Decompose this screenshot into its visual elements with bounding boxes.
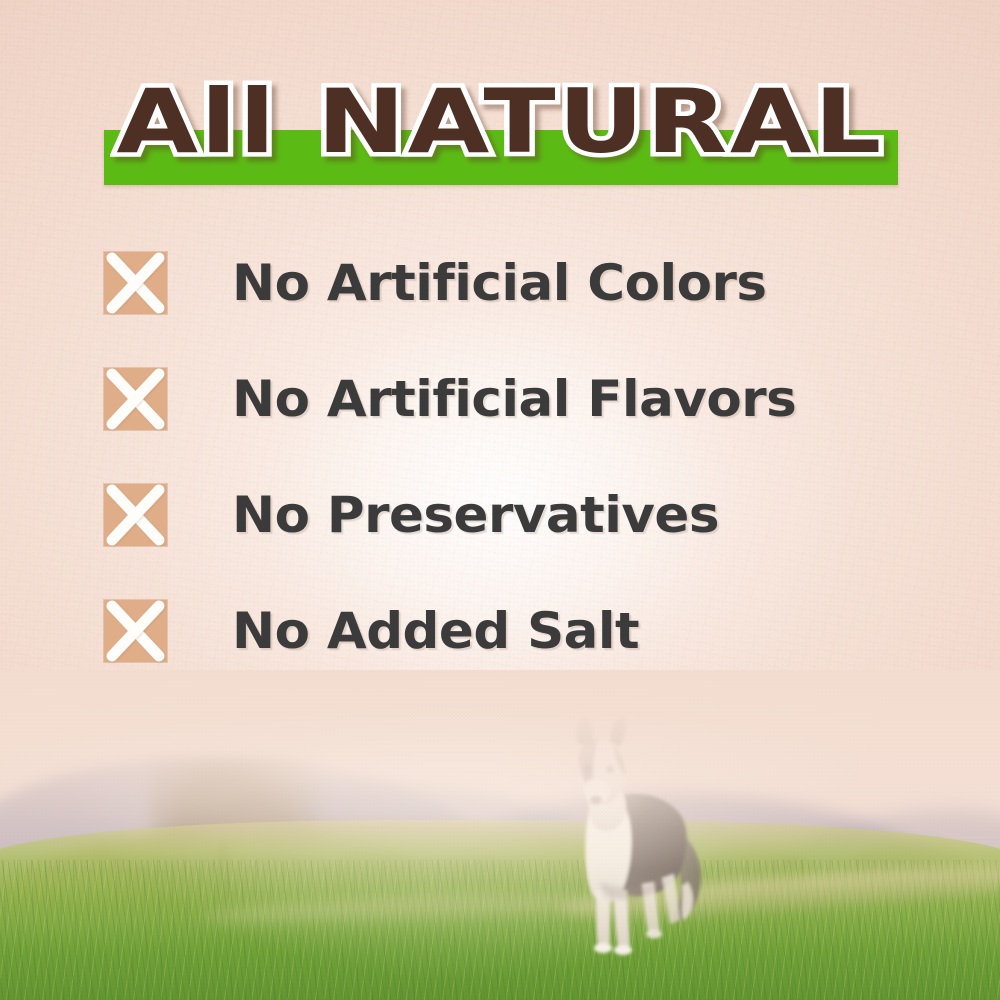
all-natural-poster: All NATURAL No Artificial Colors No Arti…	[0, 0, 1000, 1000]
benefits-checklist: No Artificial Colors No Artificial Flavo…	[104, 252, 944, 716]
checklist-item-no-artificial-colors: No Artificial Colors	[104, 252, 944, 314]
x-mark-icon	[104, 484, 167, 546]
header-banner: All NATURAL	[0, 62, 1000, 190]
x-mark-icon	[104, 600, 167, 662]
x-mark-icon	[104, 368, 167, 430]
checklist-item-label: No Artificial Colors	[232, 258, 766, 308]
checklist-item-label: No Preservatives	[232, 490, 719, 540]
checklist-item-no-preservatives: No Preservatives	[104, 484, 944, 546]
checklist-item-no-added-salt: No Added Salt	[104, 600, 944, 662]
page-title: All NATURAL	[0, 62, 1000, 182]
x-mark-icon	[104, 252, 167, 314]
dog-photo-subject	[530, 714, 720, 962]
checklist-item-label: No Added Salt	[232, 606, 639, 656]
checklist-item-label: No Artificial Flavors	[232, 374, 796, 424]
checklist-item-no-artificial-flavors: No Artificial Flavors	[104, 368, 944, 430]
landscape-photo	[0, 670, 1000, 1000]
